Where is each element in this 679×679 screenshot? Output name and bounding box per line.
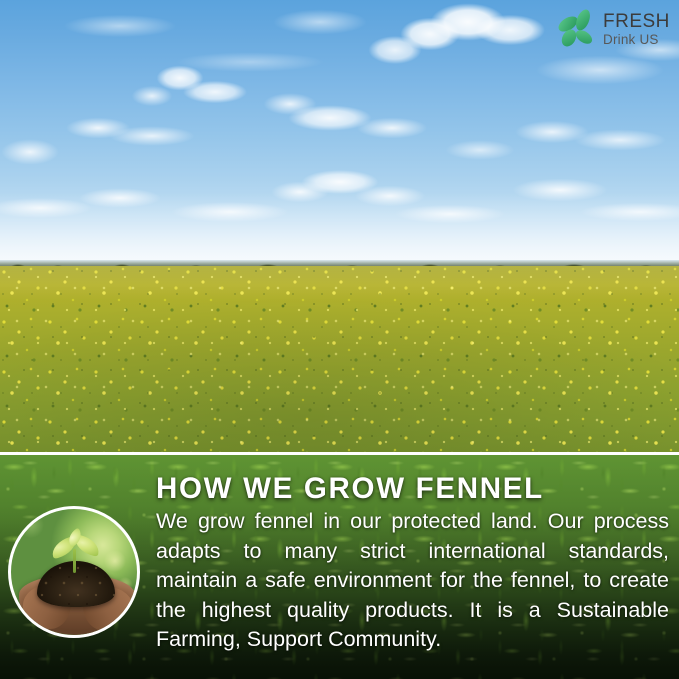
panel-body-text: We grow fennel in our protected land. Ou… <box>156 507 669 655</box>
seedling-circle-photo <box>8 506 140 638</box>
info-panel: HOW WE GROW FENNEL We grow fennel in our… <box>0 455 679 679</box>
panel-body-text-content: We grow fennel in our protected land. Ou… <box>156 509 669 651</box>
product-infographic-poster: FRESH Drink US HOW WE GROW FENNEL We gro… <box>0 0 679 679</box>
field-shading <box>0 266 679 452</box>
four-leaf-cluster-icon <box>556 9 598 49</box>
brand-name-secondary: Drink US <box>603 33 670 47</box>
brand-name-primary: FRESH <box>603 12 670 31</box>
hero-field-photo: FRESH Drink US <box>0 0 679 452</box>
brand-logo[interactable]: FRESH Drink US <box>556 6 674 52</box>
flowering-field <box>0 266 679 452</box>
brand-name: FRESH Drink US <box>603 12 670 47</box>
seedling-stem <box>73 549 76 573</box>
section-divider <box>0 452 679 455</box>
panel-heading: HOW WE GROW FENNEL <box>156 472 670 506</box>
